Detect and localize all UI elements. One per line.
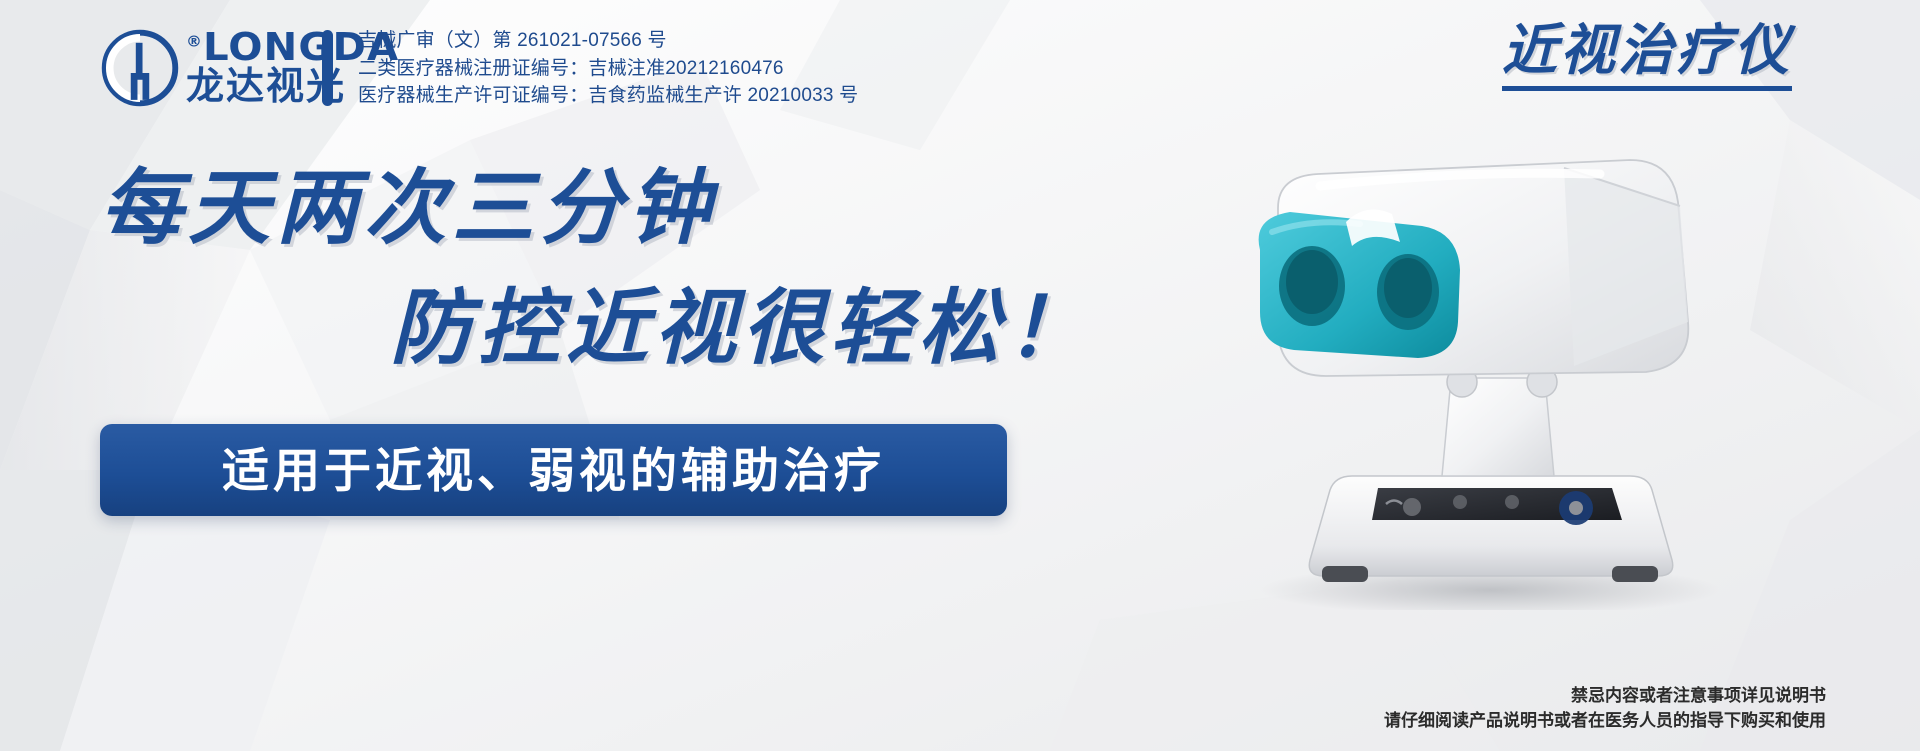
disclaimer-line-2: 请仔细阅读产品说明书或者在医务人员的指导下购买和使用 (1384, 708, 1826, 733)
regulatory-info: 吉械广审（文）第 261021-07566 号 二类医疗器械注册证编号：吉械注准… (358, 28, 858, 111)
legal-disclaimer: 禁忌内容或者注意事项详见说明书 请仔细阅读产品说明书或者在医务人员的指导下购买和… (1384, 683, 1826, 733)
headline-secondary: 防控近视很轻松！ (390, 288, 1094, 370)
headline-primary: 每天两次三分钟 (100, 168, 716, 250)
product-title-text: 近视治疗仪 (1502, 22, 1792, 80)
brand-logo: ®LONGDA 龙达视光 (98, 26, 387, 110)
regulatory-line-2: 二类医疗器械注册证编号：吉械注准20212160476 (358, 56, 858, 83)
longda-circle-logo-icon (98, 26, 182, 110)
promo-banner-text: 适用于近视、弱视的辅助治疗 (222, 447, 885, 494)
registered-symbol-icon: ® (186, 32, 203, 50)
product-title: 近视治疗仪 (1502, 22, 1792, 91)
advertisement-banner: ®LONGDA 龙达视光 吉械广审（文）第 261021-07566 号 二类医… (0, 0, 1920, 751)
product-image (1160, 90, 1860, 610)
promo-banner: 适用于近视、弱视的辅助治疗 (100, 424, 1007, 516)
vertical-divider (322, 30, 333, 106)
product-title-underline (1502, 86, 1792, 91)
brand-chinese-name: 龙达视光 (186, 68, 387, 108)
disclaimer-line-1: 禁忌内容或者注意事项详见说明书 (1384, 683, 1826, 708)
regulatory-line-1: 吉械广审（文）第 261021-07566 号 (358, 28, 858, 55)
regulatory-line-3: 医疗器械生产许可证编号：吉食药监械生产许 20210033 号 (358, 83, 858, 110)
brand-wordmark: ®LONGDA 龙达视光 (186, 28, 387, 109)
